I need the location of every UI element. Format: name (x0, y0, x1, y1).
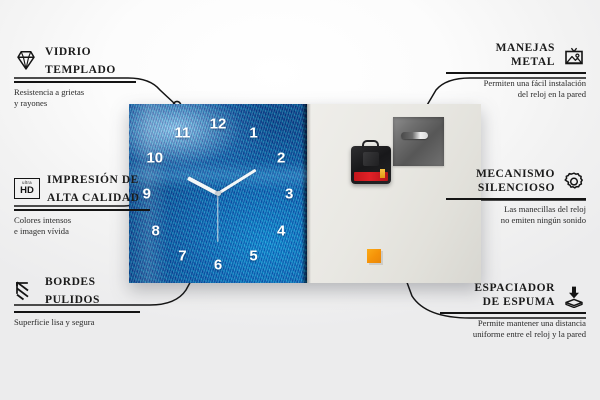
feature-bordes-pulidos: BORDES PULIDOS Superficie lisa y segura (14, 272, 140, 328)
feature-impresion-alta-calidad: ultra HD IMPRESIÓN DE ALTA CALIDAD Color… (14, 170, 150, 237)
feature-divider (14, 311, 140, 313)
feature-description: Permiten una fácil instalación del reloj… (446, 78, 586, 100)
clock-front-panel: 12 1 2 3 4 5 6 7 8 9 10 11 (129, 104, 307, 283)
metal-hanger-bracket (393, 117, 444, 166)
feature-title-line2: DE ESPUMA (474, 296, 555, 310)
clock-numeral: 10 (146, 150, 163, 165)
gear-icon (562, 170, 586, 194)
foam-spacer-pad (367, 249, 381, 263)
feature-title-line2: SILENCIOSO (476, 182, 555, 196)
clock-numeral: 7 (178, 249, 186, 264)
feature-title: VIDRIO TEMPLADO (45, 42, 116, 78)
feature-header: VIDRIO TEMPLADO (14, 42, 136, 78)
feature-desc-line2: del reloj en la pared (518, 89, 586, 99)
infographic-stage: 12 1 2 3 4 5 6 7 8 9 10 11 (0, 0, 600, 400)
feature-title-line2: ALTA CALIDAD (47, 192, 140, 204)
feature-desc-line1: Resistencia a grietas (14, 87, 84, 97)
feature-title: MECANISMO SILENCIOSO (476, 168, 555, 195)
feature-title-line1: IMPRESIÓN DE (47, 174, 139, 186)
feature-title-line1: MANEJAS (496, 42, 555, 56)
clock-minute-hand (217, 168, 257, 195)
feature-header: MECANISMO SILENCIOSO (446, 168, 586, 195)
clock-numeral: 11 (174, 125, 190, 140)
clock-numeral: 12 (210, 116, 227, 131)
feature-header: ultra HD IMPRESIÓN DE ALTA CALIDAD (14, 170, 150, 206)
feature-divider (440, 312, 586, 314)
polished-edges-icon (14, 278, 38, 302)
feature-desc-line2: no emiten ningún sonido (501, 215, 586, 225)
feature-title: IMPRESIÓN DE ALTA CALIDAD (47, 170, 140, 206)
feature-vidrio-templado: VIDRIO TEMPLADO Resistencia a grietas y … (14, 42, 136, 109)
feature-desc-line1: Permite mantener una distancia (478, 318, 586, 328)
feature-title-line2: METAL (496, 56, 555, 70)
feature-desc-line1: Permiten una fácil instalación (484, 78, 586, 88)
feature-title-line1: MECANISMO (476, 168, 555, 182)
clock-numeral: 2 (277, 150, 285, 165)
clock-numeral: 8 (152, 224, 160, 239)
feature-divider (446, 72, 586, 74)
feature-desc-line2: uniforme entre el reloj y la pared (473, 329, 586, 339)
feature-desc-line1: Colores intensos (14, 215, 71, 225)
clock-numeral: 1 (249, 125, 257, 140)
feature-title-line1: BORDES (45, 276, 96, 288)
clock-second-hand (217, 194, 218, 242)
quartz-movement (351, 146, 391, 184)
clock-numeral: 5 (249, 249, 257, 264)
feature-divider (446, 198, 586, 200)
feature-manejas-metal: MANEJAS METAL Permiten una fácil instala… (446, 42, 586, 100)
feature-desc-line2: y rayones (14, 98, 47, 108)
bracket-slot (401, 132, 428, 139)
feature-description: Las manecillas del reloj no emiten ningú… (446, 204, 586, 226)
clock-numeral: 3 (285, 186, 293, 201)
movement-shaft (363, 152, 379, 166)
feature-description: Resistencia a grietas y rayones (14, 87, 136, 109)
clock-hour-hand (187, 176, 219, 195)
movement-label (354, 172, 388, 181)
feature-divider (14, 81, 136, 83)
feature-header: MANEJAS METAL (446, 42, 586, 69)
product-photo: 12 1 2 3 4 5 6 7 8 9 10 11 (129, 104, 481, 283)
feature-title-line1: ESPACIADOR (474, 282, 555, 296)
clock-numeral: 6 (214, 258, 222, 273)
feature-header: ESPACIADOR DE ESPUMA (440, 282, 586, 309)
feature-title-line2: TEMPLADO (45, 64, 116, 76)
feature-desc-line1: Las manecillas del reloj (504, 204, 586, 214)
feature-description: Superficie lisa y segura (14, 317, 140, 328)
feature-header: BORDES PULIDOS (14, 272, 140, 308)
picture-hanger-icon (562, 44, 586, 68)
ultra-hd-icon-main: HD (20, 186, 34, 196)
feature-title: ESPACIADOR DE ESPUMA (474, 282, 555, 309)
arrow-down-layers-icon (562, 284, 586, 308)
ultra-hd-icon: ultra HD (14, 178, 40, 199)
diamond-icon (14, 48, 38, 72)
feature-description: Permite mantener una distancia uniforme … (440, 318, 586, 340)
clock-center-cap (216, 191, 221, 196)
feature-espaciador-espuma: ESPACIADOR DE ESPUMA Permite mantener un… (440, 282, 586, 340)
movement-hook (362, 140, 379, 148)
feature-description: Colores intensos e imagen vívida (14, 215, 150, 237)
clock-numeral: 4 (277, 224, 285, 239)
feature-divider (14, 209, 150, 211)
feature-title: BORDES PULIDOS (45, 272, 100, 308)
feature-desc-line2: e imagen vívida (14, 226, 69, 236)
feature-desc-line1: Superficie lisa y segura (14, 317, 94, 327)
feature-title: MANEJAS METAL (496, 42, 555, 69)
feature-title-line2: PULIDOS (45, 294, 100, 306)
feature-title-line1: VIDRIO (45, 46, 91, 58)
feature-mecanismo-silencioso: MECANISMO SILENCIOSO Las manecillas del … (446, 168, 586, 226)
